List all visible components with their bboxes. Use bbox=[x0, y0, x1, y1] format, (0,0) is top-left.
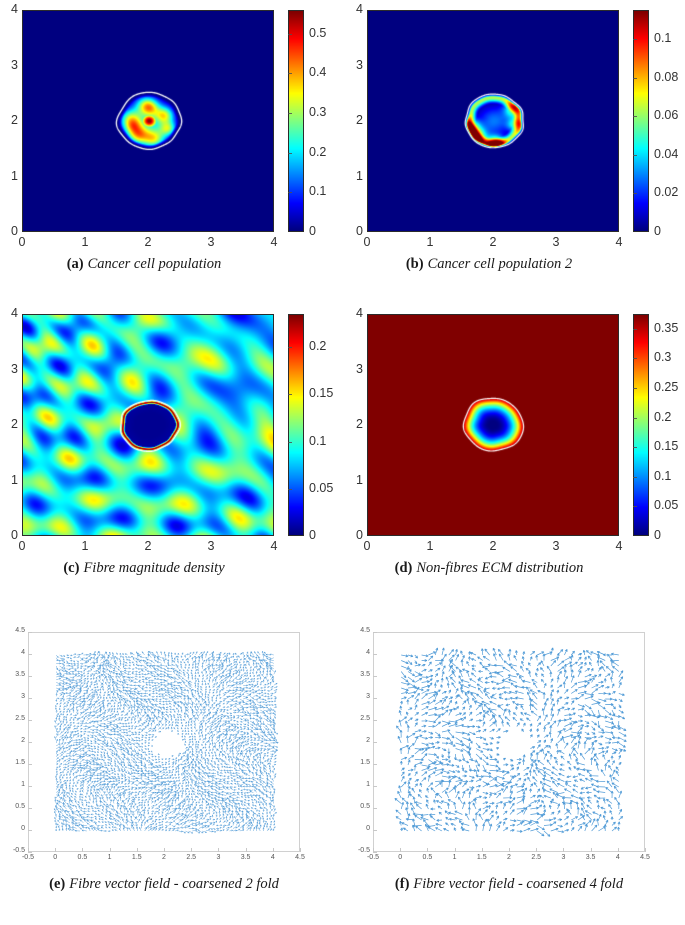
xtick-mark-f bbox=[536, 848, 537, 852]
xtick-mark-f bbox=[400, 848, 401, 852]
ytick-label-f: 2 bbox=[354, 737, 370, 744]
ytick-label-f: 3.5 bbox=[354, 671, 370, 678]
xtick-mark-f bbox=[618, 848, 619, 852]
xtick-mark-f bbox=[645, 848, 646, 852]
xtick-label-f: 2 bbox=[499, 854, 519, 861]
xtick-label-f: 3.5 bbox=[581, 854, 601, 861]
xtick-label-f: 1.5 bbox=[472, 854, 492, 861]
xtick-mark-f bbox=[427, 848, 428, 852]
xtick-label-f: 2.5 bbox=[526, 854, 546, 861]
axes-f bbox=[373, 632, 645, 852]
ytick-mark-f bbox=[373, 852, 377, 853]
panel-f: -0.500.511.522.533.544.5-0.500.511.522.5… bbox=[0, 0, 685, 925]
ytick-mark-f bbox=[373, 808, 377, 809]
ytick-mark-f bbox=[373, 654, 377, 655]
ytick-mark-f bbox=[373, 720, 377, 721]
xtick-label-f: -0.5 bbox=[363, 854, 383, 861]
xtick-label-f: 4.5 bbox=[635, 854, 655, 861]
ytick-label-f: 3 bbox=[354, 693, 370, 700]
xtick-label-f: 0.5 bbox=[417, 854, 437, 861]
ytick-mark-f bbox=[373, 786, 377, 787]
xtick-label-f: 3 bbox=[553, 854, 573, 861]
xtick-mark-f bbox=[563, 848, 564, 852]
caption-text-f: Fibre vector field - coarsened 4 fold bbox=[413, 876, 623, 892]
quiver-plot-f bbox=[374, 633, 646, 853]
xtick-label-f: 4 bbox=[608, 854, 628, 861]
ytick-mark-f bbox=[373, 676, 377, 677]
caption-f: (f)Fibre vector field - coarsened 4 fold bbox=[395, 876, 623, 893]
ytick-label-f: 4.5 bbox=[354, 627, 370, 634]
caption-label-f: (f) bbox=[395, 876, 410, 892]
ytick-mark-f bbox=[373, 698, 377, 699]
ytick-label-f: 0.5 bbox=[354, 803, 370, 810]
ytick-mark-f bbox=[373, 742, 377, 743]
xtick-mark-f bbox=[509, 848, 510, 852]
xtick-mark-f bbox=[482, 848, 483, 852]
ytick-mark-f bbox=[373, 764, 377, 765]
ytick-label-f: 2.5 bbox=[354, 715, 370, 722]
ytick-mark-f bbox=[373, 632, 377, 633]
xtick-label-f: 0 bbox=[390, 854, 410, 861]
ytick-label-f: 1 bbox=[354, 781, 370, 788]
quiver-arrows bbox=[395, 648, 627, 837]
ytick-label-f: 0 bbox=[354, 825, 370, 832]
ytick-label-f: -0.5 bbox=[354, 847, 370, 854]
ytick-mark-f bbox=[373, 830, 377, 831]
figure-root: 012340123400.10.20.30.40.5(a)Cancer cell… bbox=[0, 0, 685, 925]
xtick-mark-f bbox=[591, 848, 592, 852]
ytick-label-f: 4 bbox=[354, 649, 370, 656]
xtick-label-f: 1 bbox=[445, 854, 465, 861]
xtick-mark-f bbox=[455, 848, 456, 852]
ytick-label-f: 1.5 bbox=[354, 759, 370, 766]
